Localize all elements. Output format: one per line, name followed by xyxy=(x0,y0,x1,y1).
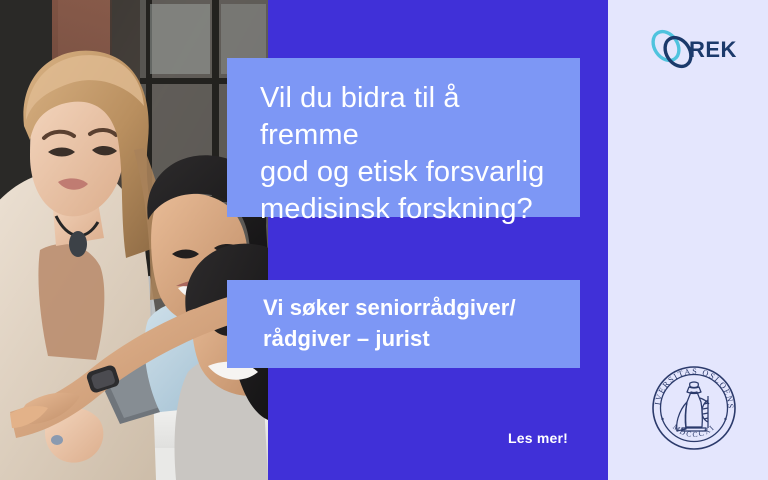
uio-seal: UNIVERSITAS OSLOENSIS MDCCCXI xyxy=(648,362,740,454)
headline-text: Vil du bidra til å fremme god og etisk f… xyxy=(260,80,552,228)
rek-logo[interactable]: REK xyxy=(648,26,744,72)
rek-wordmark: REK xyxy=(689,37,737,62)
recruitment-banner: Vil du bidra til å fremme god og etisk f… xyxy=(0,0,768,480)
headline-textbox: Vil du bidra til å fremme god og etisk f… xyxy=(227,58,580,217)
les-mer-cta[interactable]: Les mer! xyxy=(380,430,568,446)
seal-figure xyxy=(677,382,709,431)
role-textbox: Vi søker seniorrådgiver/ rådgiver – juri… xyxy=(227,280,580,368)
seal-top-text: UNIVERSITAS OSLOENSIS xyxy=(648,362,735,410)
role-text: Vi søker seniorrådgiver/ rådgiver – juri… xyxy=(263,292,560,354)
